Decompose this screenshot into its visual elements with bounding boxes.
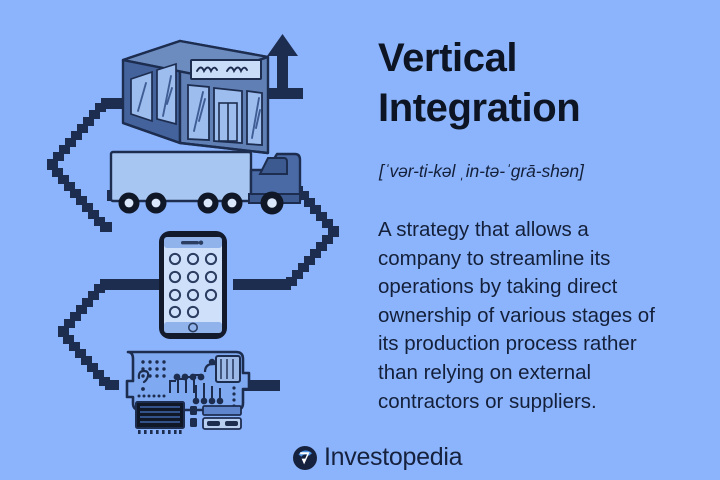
delivery-truck-icon bbox=[111, 152, 300, 215]
investopedia-logo-mark bbox=[292, 445, 318, 471]
infographic-page: Vertical Integration [ˈvər-ti-kəl ˌin-tə… bbox=[0, 0, 720, 480]
definition-line: A strategy that allows a bbox=[378, 216, 690, 245]
title-line-2: Integration bbox=[378, 83, 678, 133]
text-column: Vertical Integration [ˈvər-ti-kəl ˌin-tə… bbox=[378, 0, 698, 480]
title-line-1: Vertical bbox=[378, 33, 678, 83]
definition-line: contractors or suppliers. bbox=[378, 388, 690, 417]
definition-line: its production process rather bbox=[378, 330, 690, 359]
definition-line: than relying on external bbox=[378, 359, 690, 388]
definition-line: ownership of various stages of bbox=[378, 302, 690, 331]
retail-store-icon bbox=[123, 41, 268, 153]
page-title: Vertical Integration bbox=[378, 33, 678, 133]
pronunciation-text: [ˈvər-ti-kəl ˌin-tə-ˈgrā-shən] bbox=[379, 161, 584, 182]
vertical-integration-illustration bbox=[0, 0, 360, 480]
definition-line: company to streamline its bbox=[378, 245, 690, 274]
smartphone-icon bbox=[159, 231, 227, 339]
investopedia-logo-text: Investopedia bbox=[324, 443, 462, 472]
circuit-board-icon bbox=[127, 352, 249, 434]
definition-line: operations by taking direct bbox=[378, 273, 690, 302]
definition-text: A strategy that allows a company to stre… bbox=[378, 216, 690, 416]
investopedia-logo: Investopedia bbox=[292, 443, 462, 472]
